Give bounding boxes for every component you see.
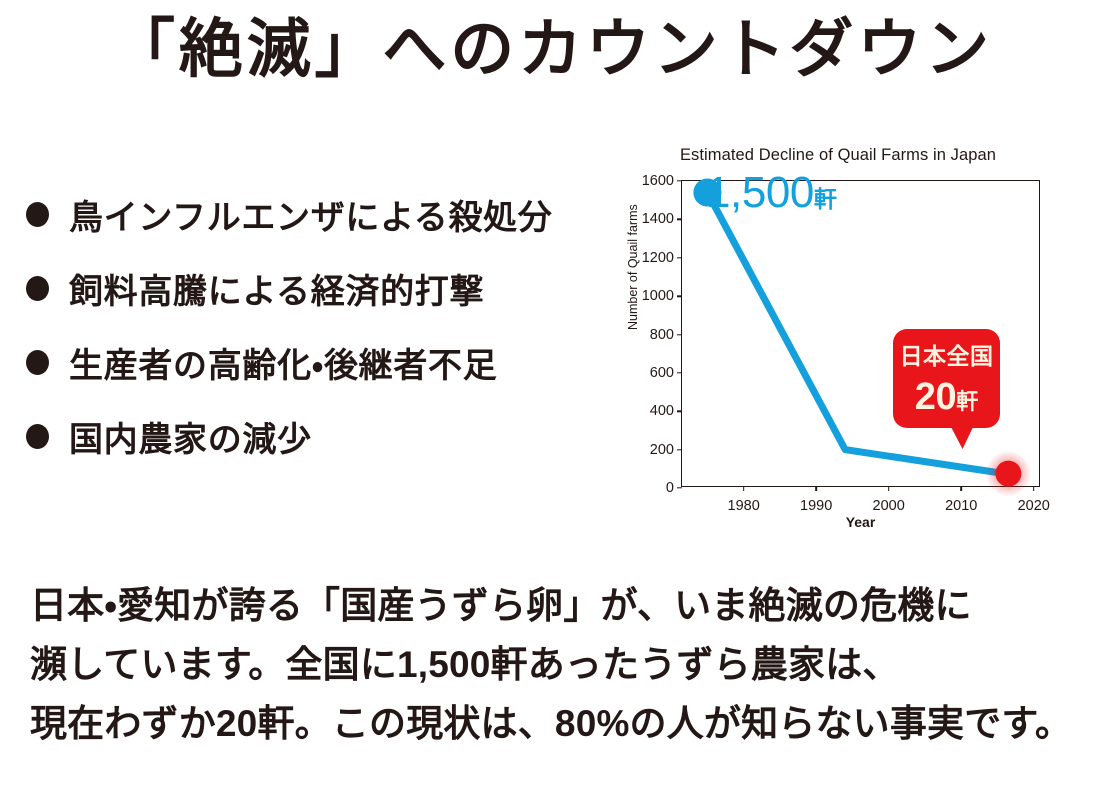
- chart-x-axis-label: Year: [681, 514, 1040, 530]
- bullet-dot-icon: [26, 350, 49, 375]
- chart-x-tick-label: 2010: [945, 486, 977, 514]
- chart-y-axis-label: Number of Quail farms: [626, 204, 640, 330]
- chart-y-tick-label: 1600: [642, 173, 682, 189]
- chart-container: Estimated Decline of Quail Farms in Japa…: [612, 140, 1064, 540]
- bullet-dot-icon: [26, 424, 49, 449]
- list-item-label: 飼料高騰による経済的打撃: [69, 264, 484, 313]
- chart-x-tick-label: 1980: [728, 486, 760, 514]
- bullet-dot-icon: [26, 202, 49, 227]
- start-value-unit: 軒: [814, 186, 837, 212]
- chart-x-tick-label: 1990: [800, 486, 832, 514]
- slide-root: 「絶滅」へのカウントダウン 鳥インフルエンザによる殺処分 飼料高騰による経済的打…: [0, 0, 1104, 786]
- paragraph-line: 現在わずか20軒。この現状は、80%の人が知らない事実です。: [30, 694, 1090, 753]
- callout-value-row: 20軒: [893, 368, 1000, 416]
- chart-title: Estimated Decline of Quail Farms in Japa…: [612, 146, 1064, 165]
- body-paragraph: 日本・愛知が誇る「国産うずら卵」が、いま絶滅の危機に 瀕しています。全国に1,5…: [30, 576, 1090, 753]
- chart-y-tick-label: 1200: [642, 250, 682, 266]
- chart-y-tick-label: 200: [650, 442, 682, 458]
- chart-y-tick-label: 800: [650, 327, 682, 343]
- list-item: 生産者の高齢化・後継者不足: [26, 328, 626, 396]
- callout-number: 20: [915, 376, 957, 418]
- callout-unit: 軒: [956, 389, 978, 414]
- chart-y-tick-label: 400: [650, 403, 682, 419]
- end-point-marker: [995, 461, 1021, 487]
- start-value-number: 1,500: [706, 168, 814, 217]
- paragraph-line: 日本・愛知が誇る「国産うずら卵」が、いま絶滅の危機に: [30, 576, 1090, 635]
- chart-y-tick-label: 1000: [642, 288, 682, 304]
- bullet-list: 鳥インフルエンザによる殺処分 飼料高騰による経済的打撃 生産者の高齢化・後継者不…: [26, 180, 626, 476]
- chart-y-tick-label: 600: [650, 365, 682, 381]
- chart-x-tick-label: 2000: [873, 486, 905, 514]
- start-value-annotation: 1,500軒: [706, 171, 837, 215]
- chart-plot-area: 02004006008001000120014001600 1980199020…: [681, 180, 1040, 487]
- bullet-dot-icon: [26, 276, 49, 301]
- list-item-label: 国内農家の減少: [69, 412, 312, 461]
- chart-y-tick-label: 0: [666, 480, 682, 496]
- list-item-label: 生産者の高齢化・後継者不足: [69, 338, 497, 387]
- callout-heading: 日本全国: [893, 329, 1000, 368]
- list-item: 飼料高騰による経済的打撃: [26, 254, 626, 322]
- list-item: 国内農家の減少: [26, 402, 626, 470]
- page-title: 「絶滅」へのカウントダウン: [0, 16, 1104, 83]
- paragraph-line: 瀕しています。全国に1,500軒あったうずら農家は、: [30, 635, 1090, 694]
- list-item: 鳥インフルエンザによる殺処分: [26, 180, 626, 248]
- status-badge-callout: 日本全国 20軒: [893, 329, 1000, 428]
- chart-y-tick-label: 1400: [642, 211, 682, 227]
- list-item-label: 鳥インフルエンザによる殺処分: [69, 190, 552, 239]
